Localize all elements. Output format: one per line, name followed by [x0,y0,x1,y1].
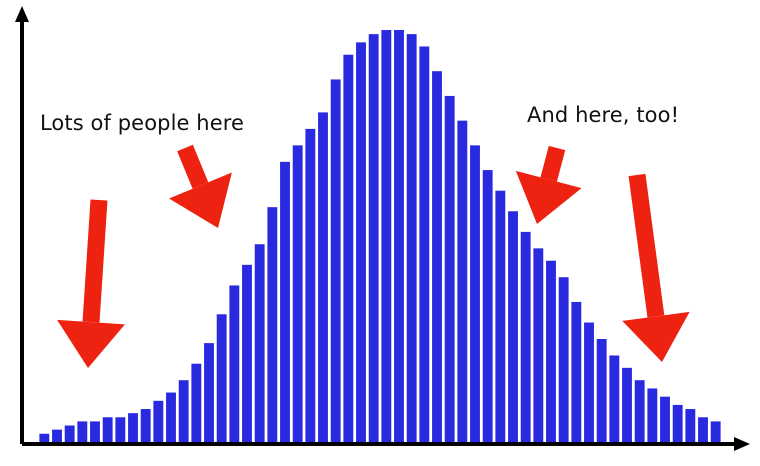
bar [673,405,683,442]
bar [267,207,277,442]
bar [521,232,531,442]
bar [52,430,62,442]
bar [546,261,556,442]
histogram-chart [0,0,760,466]
arrow-head [622,312,689,362]
bar [381,30,391,442]
bar [331,79,341,442]
bar [495,191,505,442]
bar [419,46,429,442]
bar [90,421,100,442]
bar [533,248,543,442]
bar [115,417,125,442]
bar [571,302,581,442]
bar [103,417,113,442]
bar [660,397,670,442]
arrow-right-inner [516,148,582,224]
bar [191,364,201,442]
bar [559,277,569,442]
arrow-shaft [91,200,99,322]
annotation-label-right: And here, too! [527,103,679,127]
bar [647,388,657,442]
bar [318,112,328,442]
bar [179,380,189,442]
bar [65,426,75,442]
y-axis-arrowhead [15,6,29,22]
bar [622,368,632,442]
bar [609,355,619,442]
bar [698,417,708,442]
arrow-shaft [637,175,656,316]
bar [457,121,467,442]
arrow-shaft [549,148,557,180]
bar [369,34,379,442]
bar [635,380,645,442]
bar [242,265,252,442]
bar [166,393,176,442]
bar [584,323,594,442]
bar [128,413,138,442]
chart-canvas: Lots of people here And here, too! [0,0,760,466]
arrow-far-left [57,200,125,368]
bar [217,314,227,442]
bar [445,96,455,442]
bar [39,434,49,442]
arrow-far-right [622,175,689,362]
bar [508,211,518,442]
x-axis-arrowhead [734,437,750,451]
bar [470,145,480,442]
bar [394,30,404,442]
bar-series [39,30,720,442]
bar [280,162,290,442]
bar [711,421,721,442]
bar [141,409,151,442]
bar [343,55,353,442]
bar [597,339,607,442]
bar [153,401,163,442]
bar [432,71,442,442]
bar [293,145,303,442]
bar [356,42,366,442]
annotation-label-left: Lots of people here [40,111,244,135]
bar [305,129,315,442]
arrow-head [57,320,125,368]
arrow-left-inner [169,148,232,228]
bar [483,170,493,442]
bar [77,421,87,442]
bar [685,409,695,442]
bar [229,285,239,442]
bar [255,244,265,442]
bar [407,34,417,442]
bar [204,343,214,442]
arrow-shaft [185,148,200,185]
